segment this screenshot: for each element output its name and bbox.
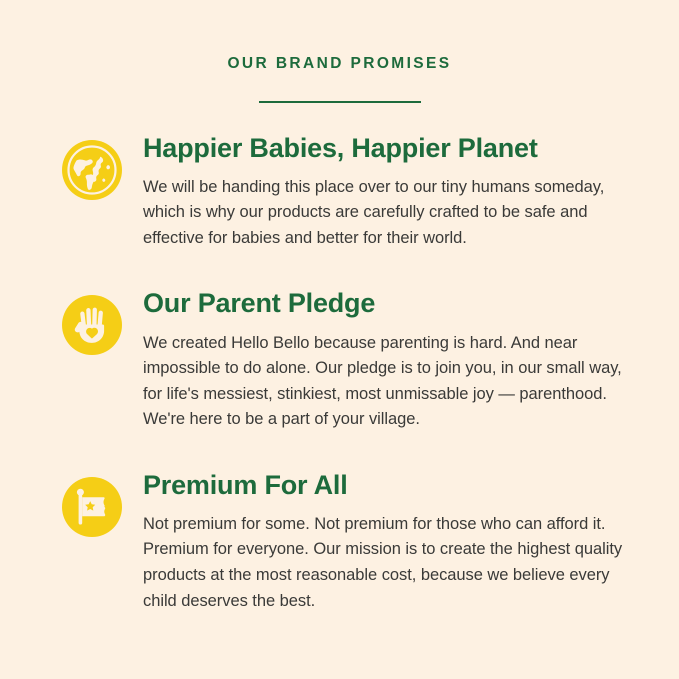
- promise-item: Premium For All Not premium for some. No…: [62, 471, 639, 614]
- page-title: OUR BRAND PROMISES: [0, 56, 679, 72]
- promise-heading: Our Parent Pledge: [143, 289, 639, 318]
- promise-content: Premium For All Not premium for some. No…: [122, 471, 639, 614]
- brand-promises-page: OUR BRAND PROMISES: [0, 0, 679, 679]
- promise-item: Happier Babies, Happier Planet We will b…: [62, 134, 639, 252]
- globe-icon: [62, 140, 122, 200]
- hand-heart-icon: [62, 295, 122, 355]
- promise-list: Happier Babies, Happier Planet We will b…: [0, 134, 679, 615]
- page-header: OUR BRAND PROMISES: [0, 0, 679, 103]
- promise-heading: Premium For All: [143, 471, 639, 500]
- promise-content: Happier Babies, Happier Planet We will b…: [122, 134, 639, 252]
- promise-content: Our Parent Pledge We created Hello Bello…: [122, 289, 639, 432]
- promise-text: Not premium for some. Not premium for th…: [143, 512, 630, 614]
- promise-text: We will be handing this place over to ou…: [143, 175, 630, 252]
- promise-item: Our Parent Pledge We created Hello Bello…: [62, 289, 639, 432]
- header-divider: [259, 101, 421, 103]
- promise-heading: Happier Babies, Happier Planet: [143, 134, 639, 163]
- flag-star-icon: [62, 477, 122, 537]
- promise-text: We created Hello Bello because parenting…: [143, 331, 630, 433]
